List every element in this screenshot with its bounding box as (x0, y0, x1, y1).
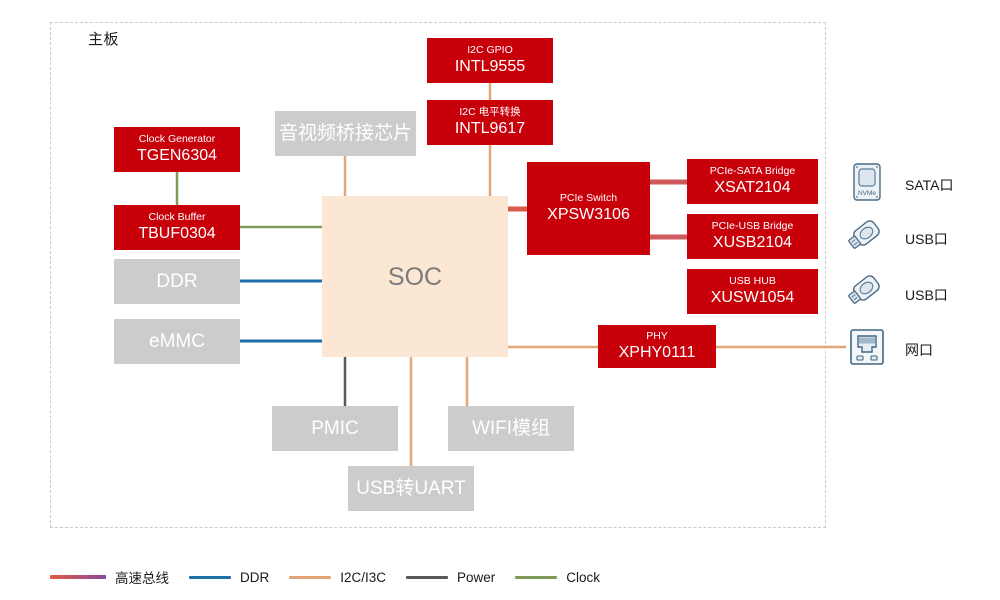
block-label: 音视频桥接芯片 (279, 123, 412, 144)
block-part-number: TGEN6304 (137, 147, 217, 165)
block-pmic[interactable]: PMIC (272, 406, 398, 451)
port-label-usb-port-2: USB口 (905, 285, 948, 305)
legend-swatch-power-bus (406, 576, 448, 579)
legend-item-high-speed-bus: 高速总线 (50, 567, 169, 587)
legend-item-power-bus: Power (406, 570, 495, 585)
block-i2c-level-shifter[interactable]: I2C 电平转换INTL9617 (427, 100, 553, 145)
legend-item-clock-bus: Clock (515, 570, 600, 585)
legend-label: Power (457, 570, 495, 585)
block-label: DDR (156, 271, 197, 292)
port-label-ethernet-port: 网口 (905, 340, 933, 360)
block-ddr[interactable]: DDR (114, 259, 240, 304)
port-label-usb-port-1: USB口 (905, 229, 948, 249)
legend: 高速总线DDRI2C/I3CPowerClock (50, 566, 620, 588)
block-label: WIFI模组 (472, 418, 550, 439)
legend-item-i2c-i3c-bus: I2C/I3C (289, 570, 386, 585)
port-label-sata-port: SATA口 (905, 175, 954, 195)
block-label: SOC (388, 263, 442, 291)
legend-label: DDR (240, 570, 269, 585)
block-phy[interactable]: PHYXPHY0111 (598, 325, 716, 368)
block-label: eMMC (149, 331, 205, 352)
block-wifi-module[interactable]: WIFI模组 (448, 406, 574, 451)
legend-item-ddr-bus: DDR (189, 570, 269, 585)
block-caption: PCIe-USB Bridge (712, 221, 794, 233)
block-pcie-switch[interactable]: PCIe SwitchXPSW3106 (527, 162, 650, 255)
board-title: 主板 (88, 28, 119, 49)
block-caption: I2C 电平转换 (459, 107, 520, 119)
legend-swatch-i2c-i3c-bus (289, 576, 331, 579)
block-caption: Clock Generator (139, 134, 215, 146)
block-part-number: INTL9617 (455, 120, 525, 138)
rj45-jack-icon (846, 325, 888, 374)
block-caption: Clock Buffer (149, 212, 206, 224)
legend-swatch-high-speed-bus (50, 575, 106, 579)
block-part-number: XPHY0111 (619, 344, 696, 362)
svg-text:NVMe: NVMe (858, 190, 876, 197)
block-part-number: XUSB2104 (713, 234, 792, 252)
legend-swatch-clock-bus (515, 576, 557, 579)
block-caption: PCIe Switch (560, 193, 617, 205)
block-part-number: XPSW3106 (547, 206, 630, 224)
usb-stick-icon (846, 215, 888, 264)
block-part-number: INTL9555 (455, 58, 525, 76)
block-part-number: TBUF0304 (138, 225, 215, 243)
block-clock-generator[interactable]: Clock GeneratorTGEN6304 (114, 127, 240, 172)
block-usb-to-uart[interactable]: USB转UART (348, 466, 474, 511)
legend-label: Clock (566, 570, 600, 585)
block-caption: I2C GPIO (467, 45, 513, 57)
block-usb-hub[interactable]: USB HUBXUSW1054 (687, 269, 818, 314)
block-part-number: XSAT2104 (714, 179, 790, 197)
block-av-bridge-chip[interactable]: 音视频桥接芯片 (275, 111, 416, 156)
block-i2c-gpio[interactable]: I2C GPIOINTL9555 (427, 38, 553, 83)
nvme-drive-icon: NVMe (846, 160, 888, 209)
block-soc[interactable]: SOC (322, 196, 508, 357)
block-caption: USB HUB (729, 276, 776, 288)
block-pcie-usb-bridge[interactable]: PCIe-USB BridgeXUSB2104 (687, 214, 818, 259)
diagram-canvas: 主板 (0, 0, 1000, 600)
legend-label: 高速总线 (115, 567, 169, 587)
block-pcie-sata-bridge[interactable]: PCIe-SATA BridgeXSAT2104 (687, 159, 818, 204)
usb-stick-icon (846, 270, 888, 319)
block-part-number: XUSW1054 (711, 289, 795, 307)
block-label: PMIC (311, 418, 359, 439)
block-emmc[interactable]: eMMC (114, 319, 240, 364)
block-caption: PHY (646, 331, 668, 343)
legend-swatch-ddr-bus (189, 576, 231, 579)
legend-label: I2C/I3C (340, 570, 386, 585)
block-caption: PCIe-SATA Bridge (710, 166, 795, 178)
block-clock-buffer[interactable]: Clock BufferTBUF0304 (114, 205, 240, 250)
block-label: USB转UART (356, 478, 465, 499)
